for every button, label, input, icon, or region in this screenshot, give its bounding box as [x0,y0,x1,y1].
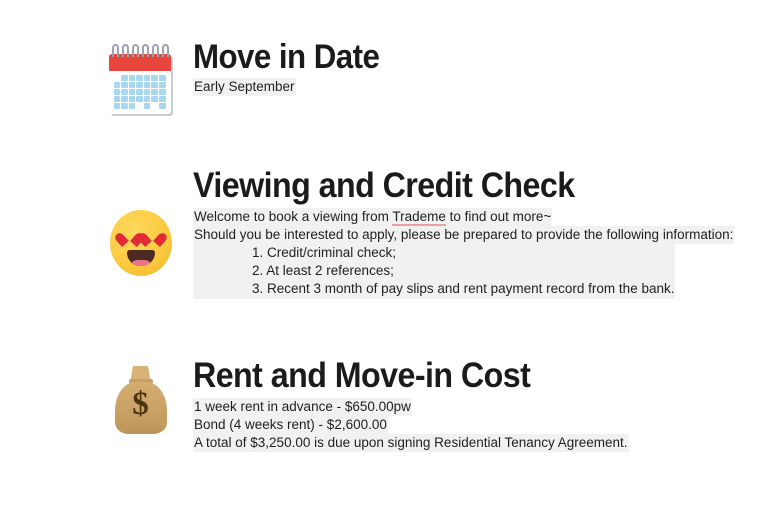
section-icon-rent-and-move-in-cost: $ [88,358,193,434]
heading-move-in-date: Move in Date [193,40,704,76]
list-item: 2. At least 2 references; [252,262,394,280]
tongue [132,260,150,266]
rent-line-total: A total of $3,250.00 is due upon signing… [193,434,629,452]
section-text-viewing-and-credit-check: Viewing and Credit Check Welcome to book… [193,168,760,299]
calendar-body [109,54,171,114]
calendar-grid [114,75,166,109]
viewing-intro-post: to find out more~ [446,209,551,224]
requirements-list: 1. Credit/criminal check; 2. At least 2 … [193,244,675,299]
section-icon-move-in-date [88,40,193,118]
section-rent-and-move-in-cost: $ Rent and Move-in Cost 1 week rent in a… [88,358,760,452]
section-text-rent-and-move-in-cost: Rent and Move-in Cost 1 week rent in adv… [193,358,760,452]
section-move-in-date: Move in Date Early September [88,40,748,118]
rent-line-advance: 1 week rent in advance - $650.00pw [193,398,412,416]
viewing-intro-line-2: Should you be interested to apply, pleas… [193,226,734,244]
heart-eyes-emoji [110,210,172,276]
rent-line-bond: Bond (4 weeks rent) - $2,600.00 [193,416,388,434]
viewing-intro-line-1: Welcome to book a viewing from Trademe t… [193,208,552,226]
money-bag-emoji: $ [111,366,171,434]
list-item: 3. Recent 3 month of pay slips and rent … [252,280,674,298]
calendar-emoji [107,42,175,118]
dollar-sign-icon: $ [111,388,171,421]
viewing-intro-pre: Welcome to book a viewing from [194,209,392,224]
heading-rent-and-move-in-cost: Rent and Move-in Cost [193,358,715,395]
listing-page: Move in Date Early September Viewing and… [0,0,768,512]
section-text-move-in-date: Move in Date Early September [193,40,748,96]
list-item: 1. Credit/criminal check; [252,244,396,262]
heading-viewing-and-credit-check: Viewing and Credit Check [193,168,715,205]
calendar-rings [111,44,171,58]
heart-eye-right-icon [144,231,161,246]
move-in-date-value: Early September [193,78,296,96]
section-viewing-and-credit-check: Viewing and Credit Check Welcome to book… [88,168,760,299]
section-icon-viewing-and-credit-check [88,168,193,276]
trademe-misspelled-word: Trademe [392,209,446,226]
heart-eye-left-icon [121,231,138,246]
